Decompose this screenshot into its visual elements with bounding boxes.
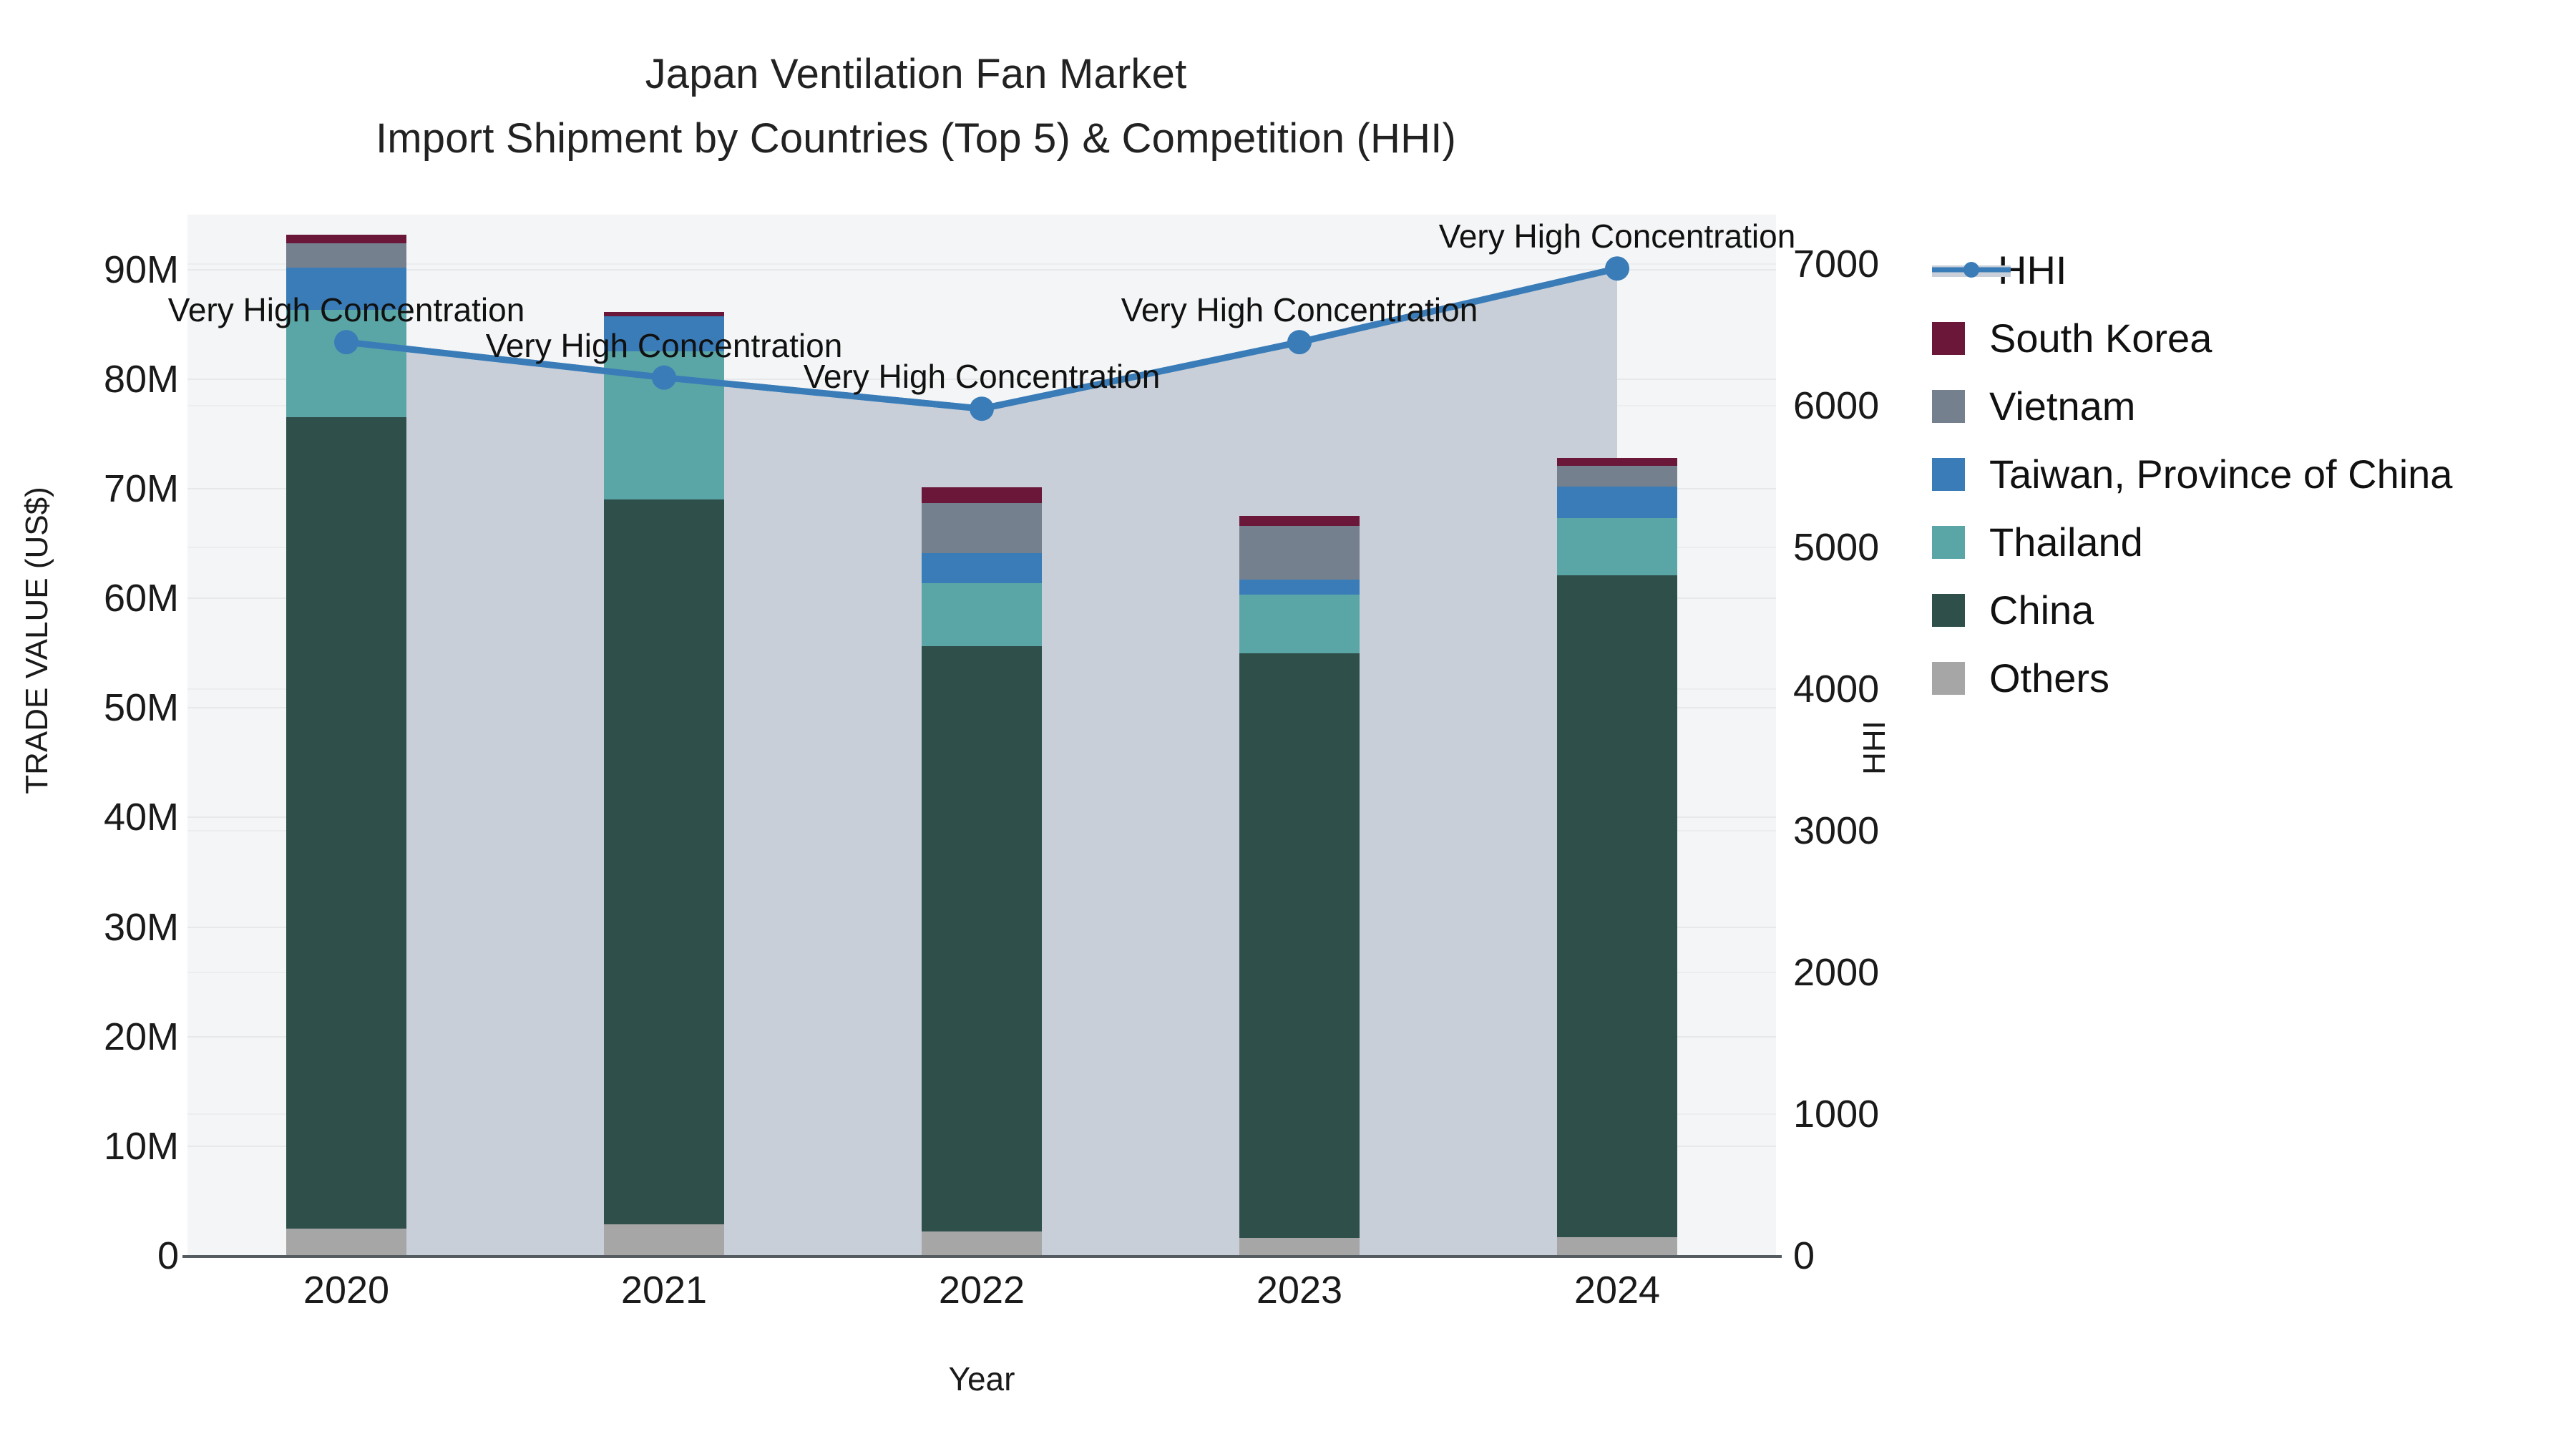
y-axis-left-tick-label: 60M — [104, 576, 179, 620]
gridline-right — [187, 263, 1776, 265]
gridline-right — [187, 405, 1776, 406]
concentration-annotation: Very High Concentration — [1439, 217, 1796, 255]
y-axis-left-tick-label: 0 — [157, 1234, 179, 1278]
y-axis-left-tick-label: 50M — [104, 686, 179, 730]
bar-segment[interactable] — [604, 499, 724, 1224]
legend-color-swatch — [1932, 662, 1965, 695]
bar-segment[interactable] — [604, 312, 724, 316]
bar-segment[interactable] — [286, 243, 406, 268]
x-axis-tick-label[interactable]: 2022 — [939, 1268, 1025, 1312]
bar-segment[interactable] — [922, 553, 1042, 582]
legend-item[interactable]: China — [1932, 576, 2562, 644]
concentration-annotation: Very High Concentration — [804, 357, 1161, 396]
y-axis-left-tick-label: 80M — [104, 357, 179, 401]
bar-segment[interactable] — [922, 503, 1042, 553]
bar-segment[interactable] — [1557, 1237, 1677, 1256]
bar-segment[interactable] — [1239, 516, 1360, 526]
y-axis-left-tick-label: 90M — [104, 248, 179, 292]
y-axis-left-tick-label: 70M — [104, 467, 179, 511]
x-axis-line — [182, 1255, 1782, 1258]
y-axis-left-title: TRADE VALUE (US$) — [19, 426, 55, 855]
bar-segment[interactable] — [286, 235, 406, 243]
y-axis-left-tick-label: 20M — [104, 1015, 179, 1059]
legend-color-swatch — [1932, 594, 1965, 627]
legend-item[interactable]: Others — [1932, 644, 2562, 712]
chart-subtitle: Import Shipment by Countries (Top 5) & C… — [0, 114, 1832, 162]
legend-item-label: South Korea — [1989, 315, 2212, 361]
bar-segment[interactable] — [922, 487, 1042, 502]
bar-segment[interactable] — [604, 1224, 724, 1256]
bar-segment[interactable] — [1239, 580, 1360, 595]
y-axis-right-title: HHI — [1857, 605, 1893, 891]
x-axis-tick-label[interactable]: 2020 — [303, 1268, 389, 1312]
y-axis-left-tick-label: 10M — [104, 1124, 179, 1169]
legend-item-label: Others — [1989, 655, 2109, 701]
legend-item[interactable]: South Korea — [1932, 304, 2562, 372]
y-axis-left-tick-label: 40M — [104, 795, 179, 839]
legend-item-label: Vietnam — [1989, 383, 2135, 429]
hhi-line-swatch-icon — [1932, 254, 2011, 287]
y-axis-right-ticks: 01000200030004000500060007000 — [1786, 0, 2001, 1449]
legend-color-swatch — [1932, 322, 1965, 355]
y-axis-left-tick-label: 30M — [104, 905, 179, 950]
y-axis-right-tick-label: 1000 — [1793, 1092, 1879, 1136]
x-axis-tick-label[interactable]: 2024 — [1574, 1268, 1660, 1312]
bar-segment[interactable] — [1557, 466, 1677, 487]
concentration-annotation: Very High Concentration — [486, 326, 843, 365]
bar-segment[interactable] — [286, 417, 406, 1228]
bar-segment[interactable] — [1239, 1238, 1360, 1256]
legend-item[interactable]: HHI — [1932, 236, 2562, 304]
bar-segment[interactable] — [1557, 487, 1677, 518]
x-axis-title: Year — [187, 1360, 1776, 1398]
legend-item[interactable]: Vietnam — [1932, 372, 2562, 440]
bar-segment[interactable] — [922, 1231, 1042, 1256]
legend-item-label: Thailand — [1989, 519, 2143, 565]
concentration-annotation: Very High Concentration — [1121, 291, 1478, 329]
legend-item[interactable]: Taiwan, Province of China — [1932, 440, 2562, 508]
y-axis-right-tick-label: 2000 — [1793, 950, 1879, 995]
x-axis-tick-label[interactable]: 2023 — [1257, 1268, 1342, 1312]
concentration-annotation: Very High Concentration — [168, 291, 525, 329]
y-axis-right-tick-label: 6000 — [1793, 384, 1879, 428]
legend-item[interactable]: Thailand — [1932, 508, 2562, 576]
bar-segment[interactable] — [1557, 518, 1677, 575]
bar-segment[interactable] — [1239, 526, 1360, 580]
bar-segment[interactable] — [1239, 653, 1360, 1239]
legend-item-label: China — [1989, 587, 2094, 633]
bar-segment[interactable] — [286, 1229, 406, 1256]
bar-segment[interactable] — [604, 351, 724, 499]
y-axis-right-tick-label: 7000 — [1793, 242, 1879, 286]
bar-segment[interactable] — [1557, 575, 1677, 1237]
x-axis-tick-label[interactable]: 2021 — [621, 1268, 707, 1312]
y-axis-right-tick-label: 5000 — [1793, 525, 1879, 570]
gridline-left — [187, 269, 1776, 270]
legend: HHISouth KoreaVietnamTaiwan, Province of… — [1932, 236, 2562, 712]
bar-segment[interactable] — [922, 646, 1042, 1231]
legend-color-swatch — [1932, 526, 1965, 559]
bar-segment[interactable] — [922, 583, 1042, 647]
chart-title: Japan Ventilation Fan Market — [0, 50, 1832, 98]
y-axis-right-tick-label: 0 — [1793, 1234, 1815, 1278]
legend-color-swatch — [1932, 390, 1965, 423]
bar-segment[interactable] — [1239, 595, 1360, 653]
legend-color-swatch — [1932, 458, 1965, 491]
legend-item-label: Taiwan, Province of China — [1989, 451, 2452, 497]
bar-segment[interactable] — [1557, 458, 1677, 466]
